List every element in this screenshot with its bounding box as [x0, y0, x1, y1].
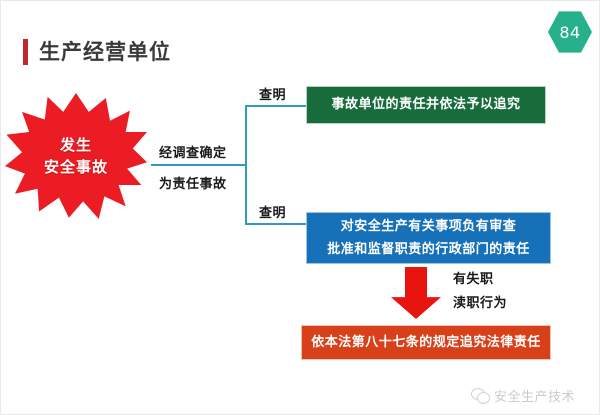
determination-line-1: 经调查确定: [159, 142, 227, 161]
condition-line-2: 渎职行为: [453, 292, 507, 311]
starburst-shape: [5, 93, 147, 219]
legal-liability-box: 依本法第八十七条的规定追究法律责任: [301, 325, 551, 360]
government-department-box: 对安全生产有关事项负有审查 批准和监督职责的行政部门的责任: [306, 212, 551, 264]
connector-branch-top: [245, 105, 308, 107]
connector-branch-bottom: [245, 223, 308, 225]
page-number-label: 84: [548, 10, 592, 54]
branch-label-top: 查明: [259, 84, 286, 103]
down-arrow-icon: [391, 267, 441, 319]
slide-canvas: 生产经营单位 84 发生 安全事故 经调查确定 为责任事故 查明 查明 事故单位…: [0, 0, 600, 415]
watermark-text: 安全生产技术: [494, 386, 575, 405]
title-accent-bar: [23, 39, 28, 65]
condition-line-1: 有失职: [453, 268, 494, 287]
page-number-badge: 84: [548, 10, 592, 54]
wechat-bubble-small: [477, 392, 490, 404]
responsibility-unit-box: 事故单位的责任并依法予以追究: [306, 86, 546, 124]
branch-label-bottom: 查明: [259, 202, 286, 221]
responsibility-unit-text: 事故单位的责任并依法予以追究: [331, 96, 520, 114]
legal-liability-text: 依本法第八十七条的规定追究法律责任: [311, 334, 541, 352]
wechat-icon: [471, 388, 488, 403]
determination-line-2: 为责任事故: [159, 173, 227, 192]
page-title: 生产经营单位: [39, 37, 171, 67]
connector-incoming: [151, 164, 247, 166]
government-department-line-2: 批准和监督职责的行政部门的责任: [327, 238, 530, 261]
connector-spine: [245, 105, 247, 225]
watermark: 安全生产技术: [471, 386, 575, 405]
government-department-line-1: 对安全生产有关事项负有审查: [341, 215, 517, 238]
